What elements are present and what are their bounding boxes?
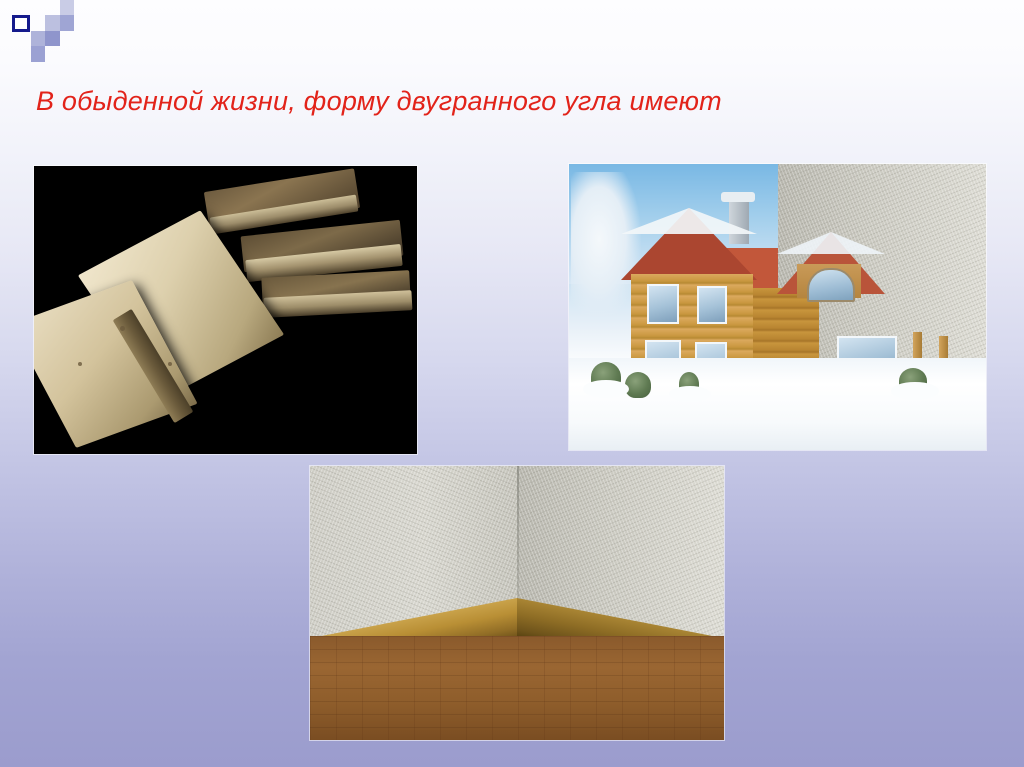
book-page-spot (120, 326, 125, 331)
snow-bush-2 (625, 372, 651, 398)
book-page-spot (168, 362, 172, 366)
window-upper-left (647, 284, 679, 324)
header-gradient-bar (60, 14, 1024, 41)
dormer-roof-snow (777, 232, 885, 254)
room-corner-photo (310, 466, 724, 740)
mosaic-square-low-left (31, 46, 45, 62)
dormer-arched-window (807, 268, 855, 302)
snow-mound-2 (669, 386, 711, 402)
snow-mound-3 (891, 382, 939, 400)
window-upper-right (697, 286, 727, 324)
wooden-house-photo (569, 164, 986, 450)
mosaic-square-mid-center (45, 31, 60, 46)
mosaic-square-mid-left (31, 31, 45, 46)
slide-title: В обыденной жизни, форму двугранного угл… (36, 86, 986, 117)
snow-mound-1 (583, 380, 629, 398)
mosaic-square-navy-solid (12, 15, 30, 32)
chimney-cap (721, 192, 755, 202)
book-page-spot (78, 362, 82, 366)
old-books-photo (34, 166, 417, 454)
mosaic-square-pale-upper (45, 15, 60, 31)
mosaic-square-pale-top (60, 0, 74, 15)
roof-front-gable-snow (621, 208, 757, 234)
slide-canvas: В обыденной жизни, форму двугранного угл… (0, 0, 1024, 767)
wooden-floor (310, 636, 724, 740)
mosaic-square-mid-upper (60, 15, 74, 31)
